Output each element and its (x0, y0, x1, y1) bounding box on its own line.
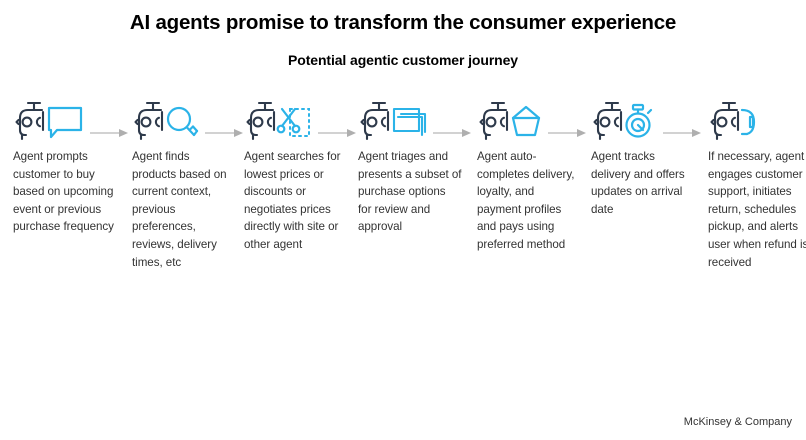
arrow-right-icon-1 (90, 125, 130, 135)
journey-step-5: Agent auto-completes delivery, loyalty, … (476, 100, 584, 148)
journey-step-2-text: Agent finds products based on current co… (132, 148, 236, 271)
robot-scissors-coupon-icon (243, 100, 351, 148)
arrow-right-icon-2 (205, 125, 245, 135)
journey-step-4: Agent triages and presents a subset of p… (357, 100, 465, 148)
journey-step-6-text: Agent tracks delivery and offers updates… (591, 148, 695, 218)
journey-step-3: Agent searches for lowest prices or disc… (243, 100, 351, 148)
journey-step-7: If necessary, agent engages customer sup… (707, 100, 806, 148)
arrow-right-icon-3 (318, 125, 358, 135)
journey-step-7-text: If necessary, agent engages customer sup… (708, 148, 806, 271)
robot-headset-icon (707, 100, 806, 148)
journey-step-2: Agent finds products based on current co… (131, 100, 239, 148)
journey-step-1-text: Agent prompts customer to buy based on u… (13, 148, 117, 236)
page-header: AI agents promise to transform the consu… (0, 0, 806, 68)
arrow-right-icon-4 (433, 125, 473, 135)
robot-stopwatch-icon (590, 100, 698, 148)
page-title: AI agents promise to transform the consu… (0, 11, 806, 36)
journey-step-6: Agent tracks delivery and offers updates… (590, 100, 698, 148)
journey-step-5-text: Agent auto-completes delivery, loyalty, … (477, 148, 581, 254)
robot-speech-bubble-icon (12, 100, 120, 148)
journey-step-4-text: Agent triages and presents a subset of p… (358, 148, 462, 236)
arrow-right-icon-6 (663, 125, 703, 135)
arrow-right-icon-5 (548, 125, 588, 135)
robot-shopping-basket-icon (476, 100, 584, 148)
robot-magnifying-glass-icon (131, 100, 239, 148)
journey-step-1: Agent prompts customer to buy based on u… (12, 100, 120, 148)
footer-attribution: McKinsey & Company (684, 416, 792, 428)
journey-step-3-text: Agent searches for lowest prices or disc… (244, 148, 348, 254)
robot-stacked-cards-icon (357, 100, 465, 148)
page-subtitle: Potential agentic customer journey (0, 52, 806, 68)
customer-journey-diagram: Agent prompts customer to buy based on u… (0, 100, 806, 400)
